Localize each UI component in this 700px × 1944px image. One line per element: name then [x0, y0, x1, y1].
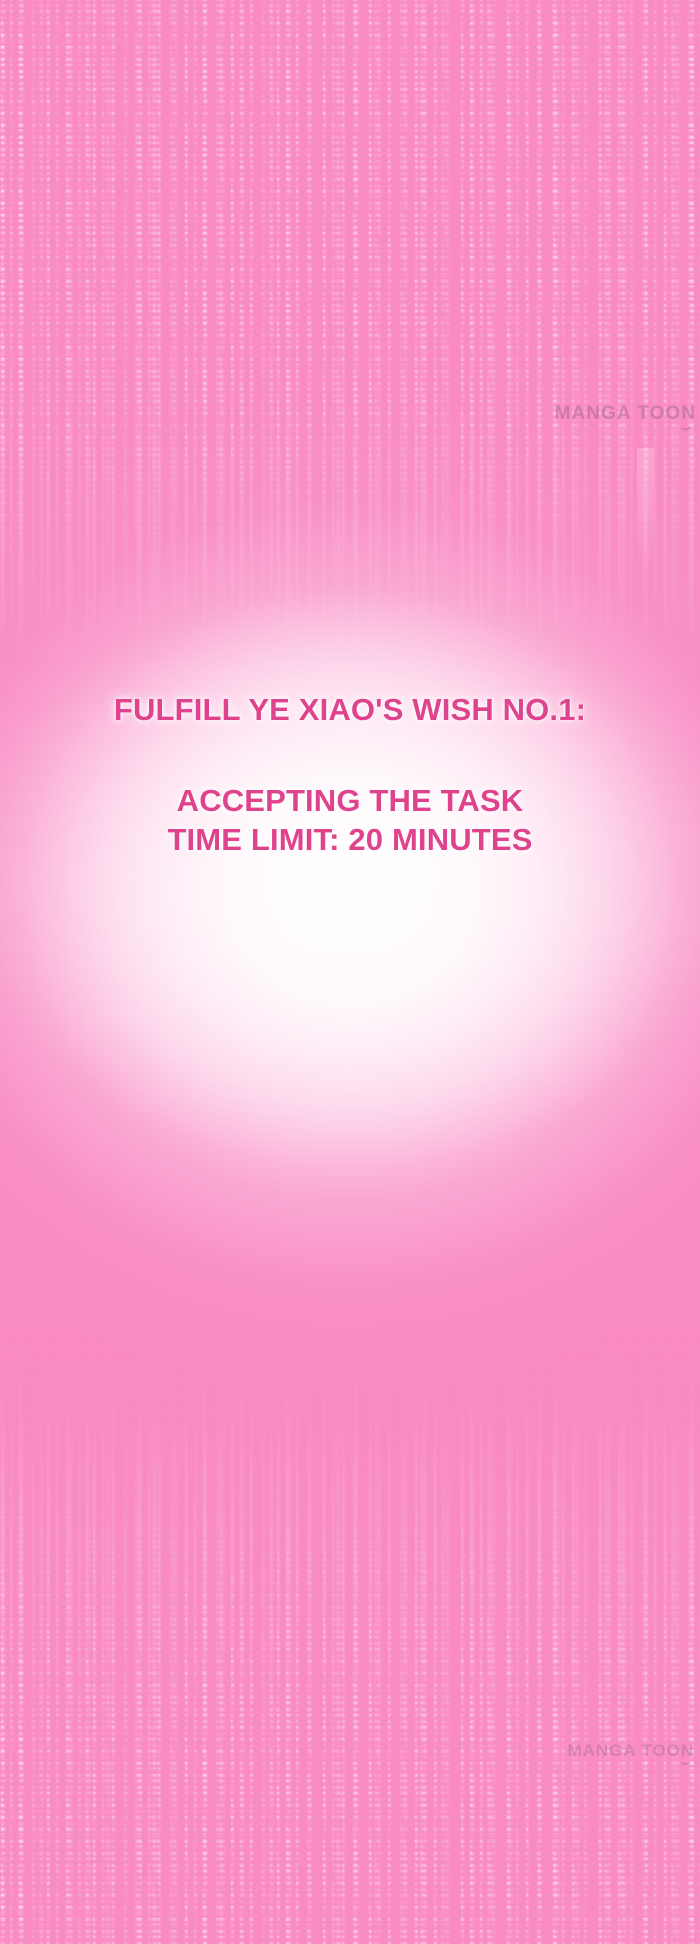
center-glow [0, 0, 700, 1944]
caption-line-3: TIME LIMIT: 20 MINUTES [0, 820, 700, 859]
smile-icon-bottom: ⌣ [568, 1759, 694, 1768]
texture-streaks-bottom [0, 0, 700, 1944]
center-glow-core [0, 0, 700, 1944]
comic-panel: MANGA TOON ⌣ FULFILL YE XIAO'S WISH NO.1… [0, 0, 700, 1944]
caption-line-1: FULFILL YE XIAO'S WISH NO.1: [0, 690, 700, 729]
smile-icon: ⌣ [555, 423, 696, 433]
texture-streaks-top [0, 0, 700, 1944]
watermark-bottom: MANGA TOON ⌣ [568, 1742, 694, 1768]
watermark-top: MANGA TOON ⌣ [555, 404, 696, 433]
caption-spacer [0, 729, 700, 781]
panel-background [0, 0, 700, 1944]
watermark-highlight-bar [637, 448, 654, 566]
texture-speckle-top [0, 0, 700, 1944]
watermark-bottom-label: MANGA TOON [568, 1742, 694, 1759]
caption-text-block: FULFILL YE XIAO'S WISH NO.1: ACCEPTING T… [0, 690, 700, 859]
caption-line-2: ACCEPTING THE TASK [0, 781, 700, 820]
watermark-top-label: MANGA TOON [555, 404, 696, 423]
texture-speckle-bottom [0, 0, 700, 1944]
